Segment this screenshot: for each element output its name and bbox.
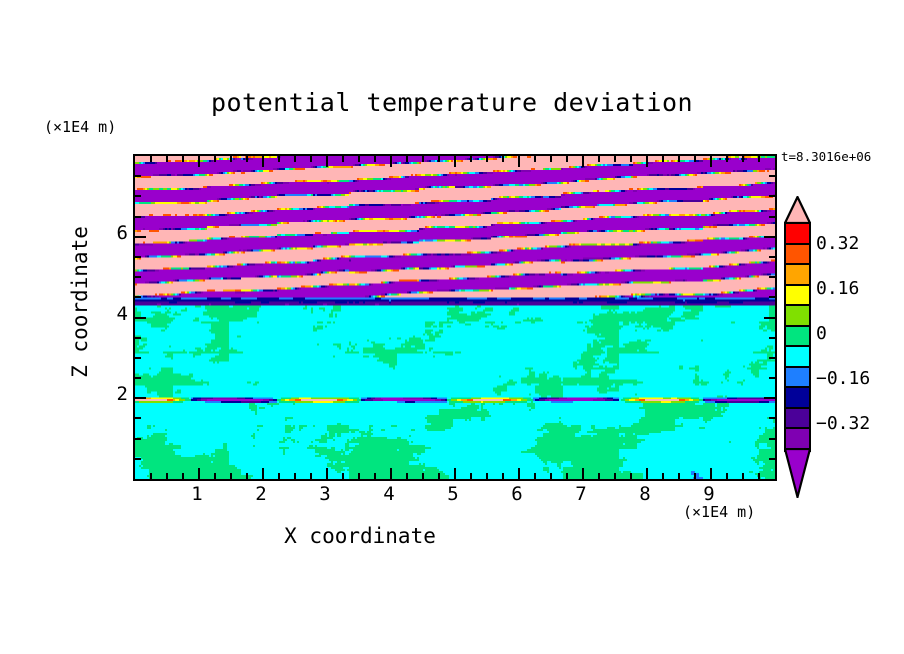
tick-mark: [135, 175, 141, 177]
page-title: potential temperature deviation: [0, 88, 904, 117]
tick-mark: [278, 156, 280, 162]
colorbar-band: [786, 388, 809, 409]
tick-mark: [694, 473, 696, 479]
tick-mark: [294, 156, 296, 162]
tick-mark: [135, 438, 141, 440]
tick-mark: [135, 458, 141, 460]
tick-mark: [726, 473, 728, 479]
colorbar-band: [786, 429, 809, 450]
tick-mark: [769, 256, 775, 258]
colorbar-under-arrow: [784, 448, 811, 498]
tick-mark: [742, 473, 744, 479]
tick-mark: [502, 156, 504, 162]
tick-mark: [342, 473, 344, 479]
tick-mark: [598, 473, 600, 479]
tick-mark: [764, 397, 775, 399]
tick-mark: [246, 473, 248, 479]
tick-mark: [769, 357, 775, 359]
tick-mark: [294, 473, 296, 479]
x-tick-label: 2: [241, 483, 281, 505]
tick-mark: [518, 468, 520, 479]
tick-mark: [769, 337, 775, 339]
tick-mark: [534, 473, 536, 479]
tick-mark: [710, 156, 712, 167]
colorbar-over-arrow: [784, 196, 811, 224]
tick-mark: [769, 175, 775, 177]
tick-mark: [135, 317, 146, 319]
colorbar-band: [786, 245, 809, 266]
tick-mark: [342, 156, 344, 162]
colorbar-band: [786, 224, 809, 245]
tick-mark: [470, 156, 472, 162]
x-tick-label: 3: [305, 483, 345, 505]
tick-mark: [135, 236, 146, 238]
tick-mark: [406, 156, 408, 162]
tick-mark: [486, 156, 488, 162]
tick-mark: [769, 216, 775, 218]
tick-mark: [678, 156, 680, 162]
colorbar-tick-label: −0.32: [816, 413, 870, 434]
tick-mark: [502, 473, 504, 479]
tick-mark: [326, 156, 328, 167]
tick-mark: [246, 156, 248, 162]
x-axis-unit-label: (×1E4 m): [683, 503, 755, 521]
tick-mark: [758, 473, 760, 479]
x-tick-label: 7: [561, 483, 601, 505]
tick-mark: [438, 156, 440, 162]
tick-mark: [422, 156, 424, 162]
x-tick-label: 6: [497, 483, 537, 505]
tick-mark: [358, 473, 360, 479]
x-tick-label: 8: [625, 483, 665, 505]
tick-mark: [182, 156, 184, 162]
tick-mark: [135, 216, 141, 218]
colorbar-band: [786, 286, 809, 307]
tick-mark: [454, 156, 456, 167]
tick-mark: [422, 473, 424, 479]
tick-mark: [566, 156, 568, 162]
tick-mark: [646, 468, 648, 479]
tick-mark: [646, 156, 648, 167]
tick-mark: [534, 156, 536, 162]
tick-mark: [374, 156, 376, 162]
tick-mark: [262, 156, 264, 167]
tick-mark: [326, 468, 328, 479]
tick-mark: [166, 156, 168, 162]
tick-mark: [278, 473, 280, 479]
tick-mark: [769, 458, 775, 460]
tick-mark: [769, 276, 775, 278]
tick-mark: [630, 156, 632, 162]
tick-mark: [454, 468, 456, 479]
tick-mark: [550, 473, 552, 479]
tick-mark: [182, 473, 184, 479]
tick-mark: [769, 417, 775, 419]
tick-mark: [764, 236, 775, 238]
tick-mark: [758, 156, 760, 162]
colorbar-band: [786, 409, 809, 430]
tick-mark: [438, 473, 440, 479]
tick-mark: [214, 156, 216, 162]
tick-mark: [230, 156, 232, 162]
tick-mark: [598, 156, 600, 162]
x-tick-label: 1: [177, 483, 217, 505]
tick-mark: [310, 473, 312, 479]
tick-mark: [374, 473, 376, 479]
tick-mark: [262, 468, 264, 479]
tick-mark: [135, 296, 141, 298]
tick-mark: [135, 377, 141, 379]
tick-mark: [135, 417, 141, 419]
contour-canvas: [135, 156, 775, 479]
tick-mark: [390, 468, 392, 479]
colorbar: [784, 222, 811, 452]
colorbar-tick-label: 0.16: [816, 278, 859, 299]
y-tick-label: 2: [88, 383, 128, 405]
x-axis-title: X coordinate: [0, 524, 720, 548]
tick-mark: [390, 156, 392, 167]
tick-mark: [406, 473, 408, 479]
colorbar-tick-label: 0: [816, 323, 827, 344]
tick-mark: [358, 156, 360, 162]
tick-mark: [742, 156, 744, 162]
tick-mark: [726, 156, 728, 162]
tick-mark: [135, 397, 146, 399]
plot-area: [133, 154, 777, 481]
tick-mark: [764, 317, 775, 319]
tick-mark: [470, 473, 472, 479]
time-stamp-annotation: t=8.3016e+06: [781, 149, 871, 164]
y-tick-label: 4: [88, 303, 128, 325]
colorbar-band: [786, 306, 809, 327]
tick-mark: [150, 156, 152, 162]
y-tick-label: 6: [88, 222, 128, 244]
tick-mark: [662, 473, 664, 479]
tick-mark: [518, 156, 520, 167]
y-axis-unit-label: (×1E4 m): [44, 118, 116, 136]
tick-mark: [166, 473, 168, 479]
tick-mark: [135, 276, 141, 278]
tick-mark: [135, 337, 141, 339]
contour-field: [135, 156, 775, 479]
colorbar-band: [786, 368, 809, 389]
colorbar-band: [786, 347, 809, 368]
tick-mark: [310, 156, 312, 162]
x-tick-label: 5: [433, 483, 473, 505]
colorbar-tick-label: 0.32: [816, 233, 859, 254]
colorbar-band: [786, 327, 809, 348]
tick-mark: [614, 473, 616, 479]
tick-mark: [198, 156, 200, 167]
tick-mark: [769, 296, 775, 298]
x-tick-label: 4: [369, 483, 409, 505]
tick-mark: [214, 473, 216, 479]
tick-mark: [582, 468, 584, 479]
tick-mark: [694, 156, 696, 162]
colorbar-band: [786, 265, 809, 286]
tick-mark: [769, 438, 775, 440]
tick-mark: [135, 357, 141, 359]
tick-mark: [135, 256, 141, 258]
tick-mark: [566, 473, 568, 479]
tick-mark: [550, 156, 552, 162]
tick-mark: [614, 156, 616, 162]
tick-mark: [150, 473, 152, 479]
tick-mark: [582, 156, 584, 167]
tick-mark: [710, 468, 712, 479]
tick-mark: [198, 468, 200, 479]
tick-mark: [486, 473, 488, 479]
tick-mark: [769, 195, 775, 197]
tick-mark: [662, 156, 664, 162]
tick-mark: [769, 377, 775, 379]
x-tick-label: 9: [689, 483, 729, 505]
colorbar-tick-label: −0.16: [816, 368, 870, 389]
tick-mark: [230, 473, 232, 479]
tick-mark: [135, 195, 141, 197]
tick-mark: [678, 473, 680, 479]
tick-mark: [630, 473, 632, 479]
